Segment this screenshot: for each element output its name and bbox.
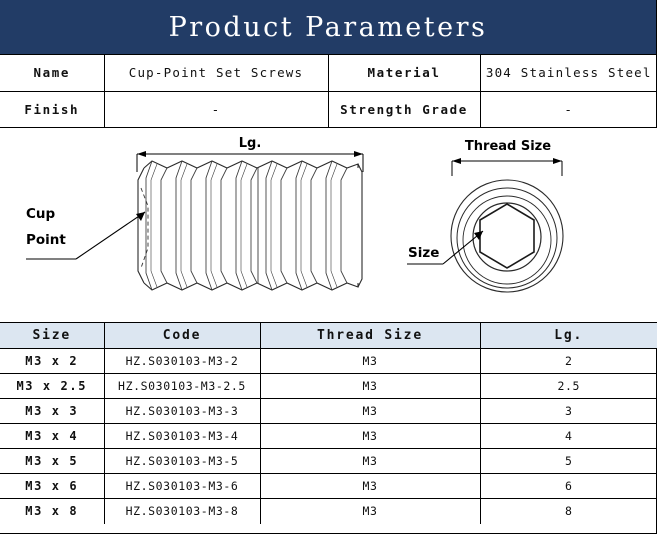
cell-code: HZ.S030103-M3-8: [104, 499, 260, 524]
cell-size: M3 x 2.5: [0, 374, 104, 399]
product-parameters-sheet: Product Parameters Name Cup-Point Set Sc…: [0, 0, 657, 534]
cup-point-hidden-lines: [141, 188, 148, 268]
spec-row-finish: Finish - Strength Grade -: [0, 91, 657, 127]
column-header-lg: Lg.: [480, 323, 657, 349]
hex-socket: [480, 204, 534, 268]
cell-code: HZ.S030103-M3-6: [104, 474, 260, 499]
table-row: M3 x 8 HZ.S030103-M3-8 M3 8: [0, 499, 657, 524]
cell-size: M3 x 8: [0, 499, 104, 524]
cell-thread-size: M3: [260, 499, 480, 524]
cell-thread-size: M3: [260, 449, 480, 474]
cell-size: M3 x 5: [0, 449, 104, 474]
spec-table: Name Cup-Point Set Screws Material 304 S…: [0, 55, 657, 128]
cell-lg: 3: [480, 399, 657, 424]
cell-thread-size: M3: [260, 474, 480, 499]
cell-lg: 5: [480, 449, 657, 474]
spec-value-finish: -: [104, 91, 328, 127]
screw-body-outline: [138, 161, 362, 290]
page-title: Product Parameters: [169, 12, 488, 43]
spec-value-material: 304 Stainless Steel: [480, 55, 657, 91]
thread-size-dimension-label: Thread Size: [465, 139, 551, 154]
table-row: M3 x 4 HZ.S030103-M3-4 M3 4: [0, 424, 657, 449]
side-view-screw: Lg.: [26, 136, 363, 290]
size-data-table: Size Code Thread Size Lg. M3 x 2 HZ.S030…: [0, 323, 657, 524]
cell-lg: 2.5: [480, 374, 657, 399]
cell-thread-size: M3: [260, 399, 480, 424]
lg-dimension-label: Lg.: [239, 136, 262, 151]
table-row: M3 x 5 HZ.S030103-M3-5 M3 5: [0, 449, 657, 474]
cell-thread-size: M3: [260, 374, 480, 399]
size-callout-label: Size: [408, 245, 439, 261]
spec-label-name: Name: [0, 55, 104, 91]
end-view-circles: [451, 180, 563, 292]
spec-label-finish: Finish: [0, 91, 104, 127]
column-header-size: Size: [0, 323, 104, 349]
spec-value-name: Cup-Point Set Screws: [104, 55, 328, 91]
cell-lg: 6: [480, 474, 657, 499]
column-header-thread-size: Thread Size: [260, 323, 480, 349]
thread-size-dimension-line: [452, 158, 562, 176]
title-banner: Product Parameters: [0, 0, 656, 55]
spec-value-strength-grade: -: [480, 91, 657, 127]
technical-drawing-area: Lg.: [0, 128, 657, 323]
drawing-svg: Lg.: [0, 128, 657, 322]
cell-lg: 2: [480, 349, 657, 374]
cell-size: M3 x 4: [0, 424, 104, 449]
table-row: M3 x 2.5 HZ.S030103-M3-2.5 M3 2.5: [0, 374, 657, 399]
cell-code: HZ.S030103-M3-5: [104, 449, 260, 474]
cell-code: HZ.S030103-M3-4: [104, 424, 260, 449]
cell-code: HZ.S030103-M3-3: [104, 399, 260, 424]
cup-point-label-line1: Cup: [26, 206, 56, 222]
table-row: M3 x 6 HZ.S030103-M3-6 M3 6: [0, 474, 657, 499]
spec-label-strength-grade: Strength Grade: [328, 91, 480, 127]
spec-row-name: Name Cup-Point Set Screws Material 304 S…: [0, 55, 657, 91]
table-row: M3 x 2 HZ.S030103-M3-2 M3 2: [0, 349, 657, 374]
cell-lg: 4: [480, 424, 657, 449]
cell-lg: 8: [480, 499, 657, 524]
end-view-socket: Thread Size: [407, 139, 563, 292]
table-row: M3 x 3 HZ.S030103-M3-3 M3 3: [0, 399, 657, 424]
screw-thread-lines: [146, 161, 347, 290]
column-header-code: Code: [104, 323, 260, 349]
cell-code: HZ.S030103-M3-2: [104, 349, 260, 374]
cell-size: M3 x 3: [0, 399, 104, 424]
cell-code: HZ.S030103-M3-2.5: [104, 374, 260, 399]
spec-label-material: Material: [328, 55, 480, 91]
cell-thread-size: M3: [260, 424, 480, 449]
cell-size: M3 x 2: [0, 349, 104, 374]
cup-point-label-line2: Point: [26, 232, 66, 248]
cell-size: M3 x 6: [0, 474, 104, 499]
data-table-header-row: Size Code Thread Size Lg.: [0, 323, 657, 349]
cell-thread-size: M3: [260, 349, 480, 374]
